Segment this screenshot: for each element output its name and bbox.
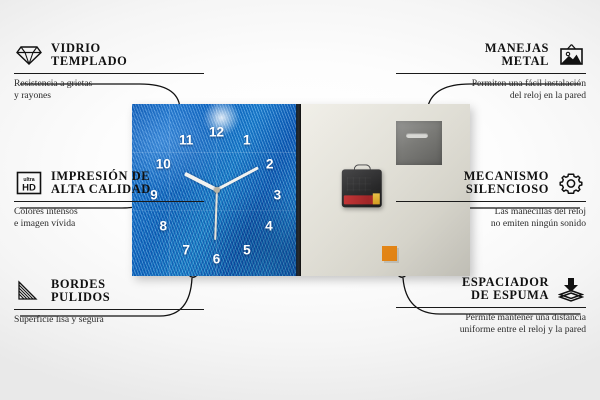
foam-spacer-pad [382, 246, 397, 261]
feature-description: Resistencia a grietas y rayones [14, 78, 204, 102]
picture-hanger-icon [556, 42, 586, 68]
clock-numeral-2: 2 [266, 157, 274, 171]
feature-callout-impresion-alta-calidad: ultra HD IMPRESIÓN DE ALTA CALIDAD Color… [14, 170, 204, 230]
feature-description: Las manecillas del reloj no emiten ningú… [396, 206, 586, 230]
feature-callout-espaciador-de-espuma: ESPACIADOR DE ESPUMA Permite mantener un… [396, 276, 586, 336]
clock-numeral-4: 4 [265, 219, 273, 233]
clock-numeral-6: 6 [213, 252, 221, 266]
feature-title: VIDRIO TEMPLADO [51, 42, 127, 68]
hanger-slot [406, 133, 428, 138]
feature-description: Colores intensos e imagen vívida [14, 206, 204, 230]
movement-body [342, 169, 382, 207]
feature-title: IMPRESIÓN DE ALTA CALIDAD [51, 170, 151, 196]
clock-numeral-7: 7 [182, 243, 190, 257]
feature-divider [14, 73, 204, 74]
clock-numeral-10: 10 [156, 157, 171, 171]
polished-edges-icon [14, 278, 44, 304]
feature-header: VIDRIO TEMPLADO [14, 42, 204, 68]
feature-callout-mecanismo-silencioso: MECANISMO SILENCIOSO Las manecillas del … [396, 170, 586, 230]
gear-icon [556, 170, 586, 196]
feature-divider [396, 307, 586, 308]
feature-description: Permiten una fácil instalación del reloj… [396, 78, 586, 102]
feature-description: Superficie lisa y segura [14, 314, 204, 326]
clock-center-pin [214, 187, 220, 193]
diamond-icon [14, 42, 44, 68]
feature-title: BORDES PULIDOS [51, 278, 110, 304]
feature-header: ESPACIADOR DE ESPUMA [396, 276, 586, 302]
foam-spacer-icon [556, 276, 586, 302]
movement-surface-detail [347, 177, 371, 191]
svg-text:HD: HD [22, 183, 36, 194]
ultra-hd-icon: ultra HD [14, 170, 44, 196]
feature-divider [14, 201, 204, 202]
clock-numeral-11: 11 [179, 133, 193, 147]
feature-title: ESPACIADOR DE ESPUMA [462, 276, 549, 302]
feature-header: BORDES PULIDOS [14, 278, 204, 304]
feature-header: ultra HD IMPRESIÓN DE ALTA CALIDAD [14, 170, 204, 196]
battery-terminal [373, 193, 380, 204]
feature-description: Permite mantener una distancia uniforme … [396, 312, 586, 336]
quartz-movement [342, 169, 382, 207]
clock-numeral-12: 12 [209, 125, 224, 139]
metal-hanger-plate [396, 121, 442, 165]
feature-title: MECANISMO SILENCIOSO [464, 170, 549, 196]
feature-divider [14, 309, 204, 310]
clock-numeral-3: 3 [274, 188, 282, 202]
feature-callout-vidrio-templado: VIDRIO TEMPLADO Resistencia a grietas y … [14, 42, 204, 102]
feature-callout-manejas-metal: MANEJAS METAL Permiten una fácil instala… [396, 42, 586, 102]
feature-divider [396, 73, 586, 74]
infographic-canvas: 12 1 2 3 4 5 6 7 8 9 10 11 [0, 0, 600, 400]
feature-callout-bordes-pulidos: BORDES PULIDOS Superficie lisa y segura [14, 278, 204, 326]
clock-numeral-5: 5 [243, 243, 251, 257]
feature-header: MECANISMO SILENCIOSO [396, 170, 586, 196]
feature-divider [396, 201, 586, 202]
feature-title: MANEJAS METAL [485, 42, 549, 68]
feature-header: MANEJAS METAL [396, 42, 586, 68]
clock-numeral-1: 1 [243, 133, 251, 147]
